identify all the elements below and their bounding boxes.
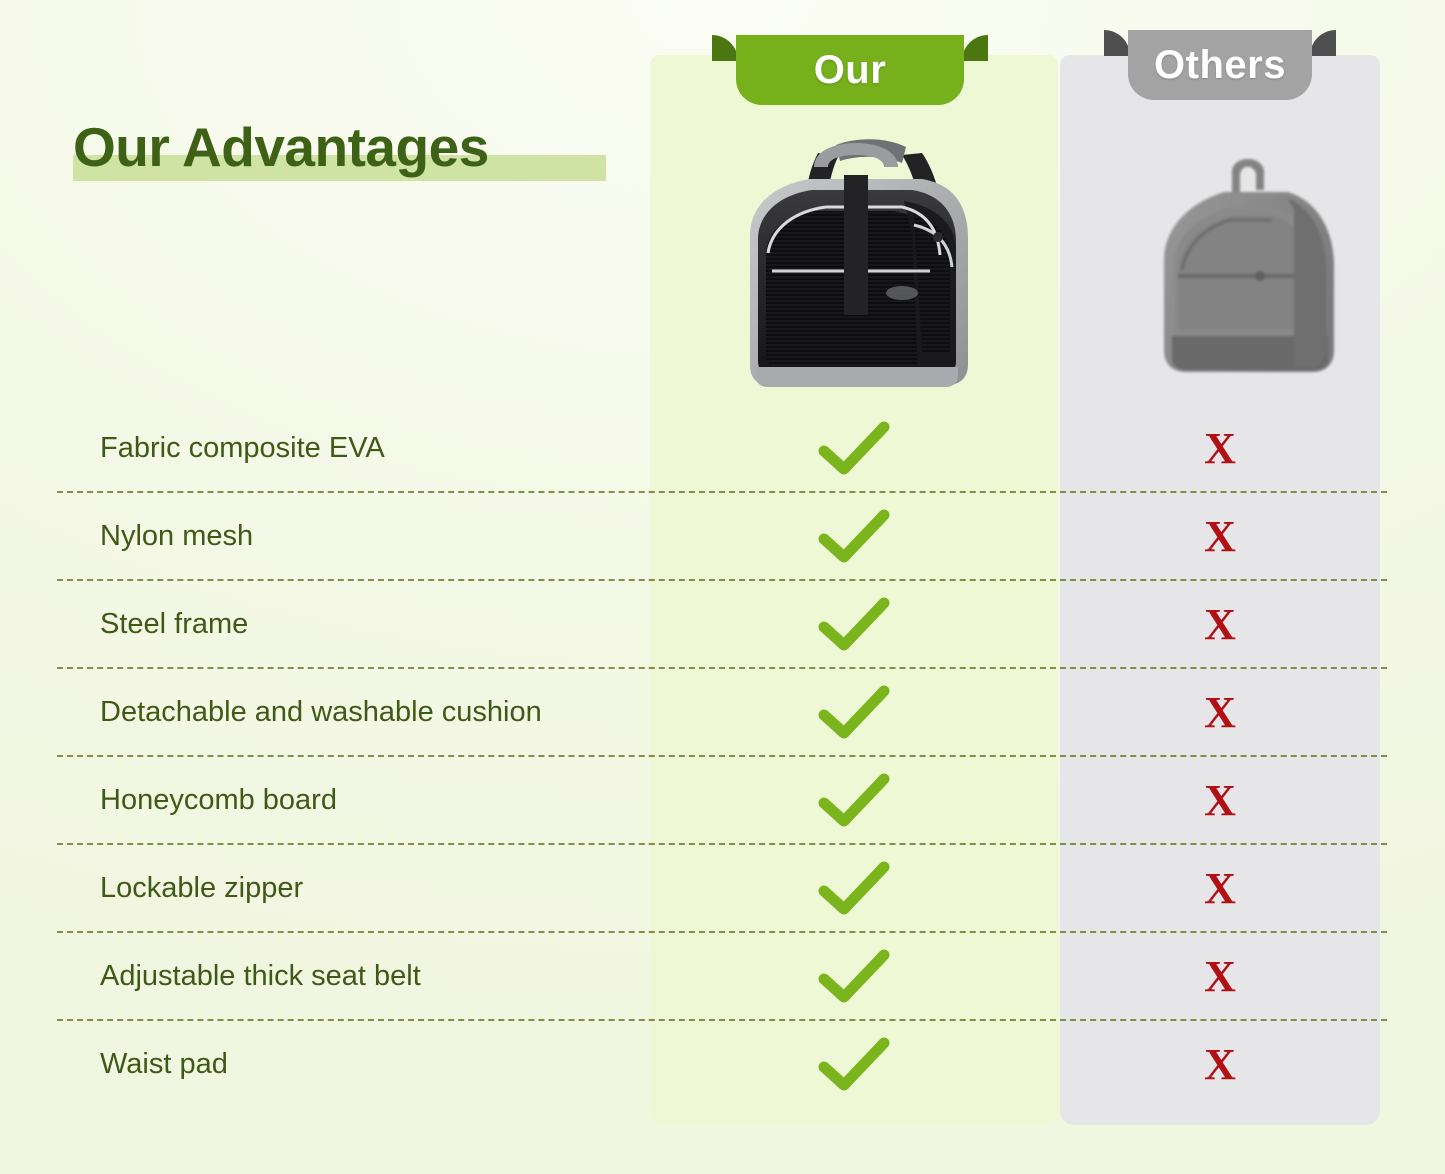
cell-others-cross: X [1060, 756, 1380, 844]
table-row: Adjustable thick seat beltX [0, 932, 1445, 1020]
table-row: Waist padX [0, 1020, 1445, 1108]
check-icon [818, 509, 890, 563]
feature-label: Waist pad [100, 1020, 228, 1108]
tab-our-label: Our [814, 48, 887, 93]
cell-our-check [650, 492, 1058, 580]
feature-label: Lockable zipper [100, 844, 303, 932]
tab-others-label: Others [1154, 43, 1286, 88]
tab-others-fold-left-icon [1104, 30, 1130, 56]
check-icon [818, 773, 890, 827]
cell-our-check [650, 1020, 1058, 1108]
cell-our-check [650, 580, 1058, 668]
feature-label: Adjustable thick seat belt [100, 932, 421, 1020]
cell-our-check [650, 844, 1058, 932]
cell-others-cross: X [1060, 1020, 1380, 1108]
product-image-others [1128, 150, 1378, 405]
table-row: Fabric composite EVAX [0, 404, 1445, 492]
check-icon [818, 685, 890, 739]
feature-label: Nylon mesh [100, 492, 253, 580]
cell-others-cross: X [1060, 404, 1380, 492]
cell-our-check [650, 668, 1058, 756]
cell-our-check [650, 756, 1058, 844]
page-title: Our Advantages [73, 112, 489, 182]
table-row: Nylon meshX [0, 492, 1445, 580]
cell-others-cross: X [1060, 668, 1380, 756]
check-icon [818, 1037, 890, 1091]
check-icon [818, 949, 890, 1003]
feature-label: Steel frame [100, 580, 248, 668]
feature-label: Honeycomb board [100, 756, 337, 844]
tab-our[interactable]: Our [736, 35, 964, 105]
table-row: Steel frameX [0, 580, 1445, 668]
tab-our-fold-left-icon [712, 35, 738, 61]
table-row: Detachable and washable cushionX [0, 668, 1445, 756]
cell-others-cross: X [1060, 492, 1380, 580]
cell-others-cross: X [1060, 844, 1380, 932]
feature-label: Fabric composite EVA [100, 404, 385, 492]
feature-label: Detachable and washable cushion [100, 668, 542, 756]
tab-our-fold-right-icon [962, 35, 988, 61]
cell-our-check [650, 404, 1058, 492]
table-row: Honeycomb boardX [0, 756, 1445, 844]
cell-others-cross: X [1060, 580, 1380, 668]
check-icon [818, 597, 890, 651]
product-image-our [706, 115, 1006, 405]
comparison-chart-root: Our Others Our Advantages [0, 0, 1445, 1174]
tab-others-fold-right-icon [1310, 30, 1336, 56]
tab-others[interactable]: Others [1128, 30, 1312, 100]
check-icon [818, 861, 890, 915]
check-icon [818, 421, 890, 475]
cell-others-cross: X [1060, 932, 1380, 1020]
cell-our-check [650, 932, 1058, 1020]
page-title-wrap: Our Advantages [73, 112, 489, 182]
table-row: Lockable zipperX [0, 844, 1445, 932]
